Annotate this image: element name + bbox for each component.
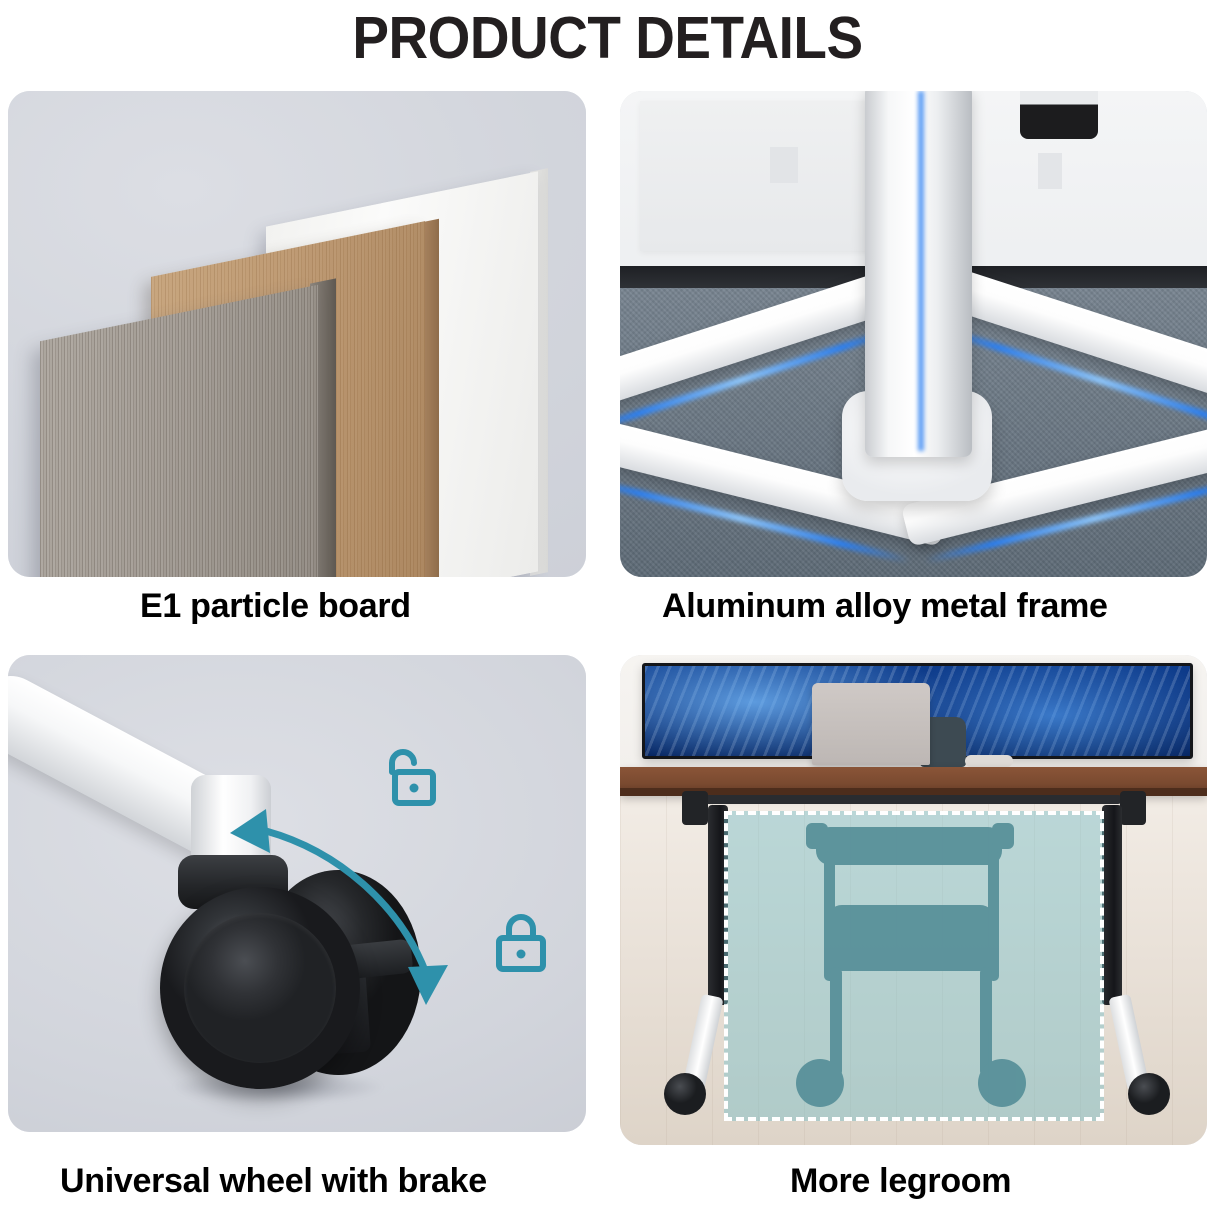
particle-board-image	[8, 91, 586, 577]
caption-more-legroom: More legroom	[790, 1162, 1011, 1201]
legroom-highlight-area	[724, 811, 1104, 1121]
universal-wheel-image	[8, 655, 586, 1132]
frame-post-glow	[917, 91, 925, 451]
caption-particle-board: E1 particle board	[140, 587, 411, 626]
panel-universal-wheel	[8, 655, 586, 1132]
caption-metal-frame: Aluminum alloy metal frame	[662, 587, 1108, 626]
wall-black-tab	[1020, 91, 1098, 139]
panel-particle-board	[8, 91, 586, 577]
unlock-icon	[376, 748, 438, 810]
panel-more-legroom	[620, 655, 1207, 1145]
wall-mark-right	[1038, 153, 1062, 189]
metal-frame-image	[620, 91, 1207, 577]
panel-metal-frame	[620, 91, 1207, 577]
more-legroom-image	[620, 655, 1207, 1145]
lock-icon	[494, 912, 556, 974]
caption-universal-wheel: Universal wheel with brake	[60, 1162, 487, 1201]
curved-double-arrow-icon	[8, 655, 586, 1132]
wall-mark-left	[770, 147, 798, 183]
